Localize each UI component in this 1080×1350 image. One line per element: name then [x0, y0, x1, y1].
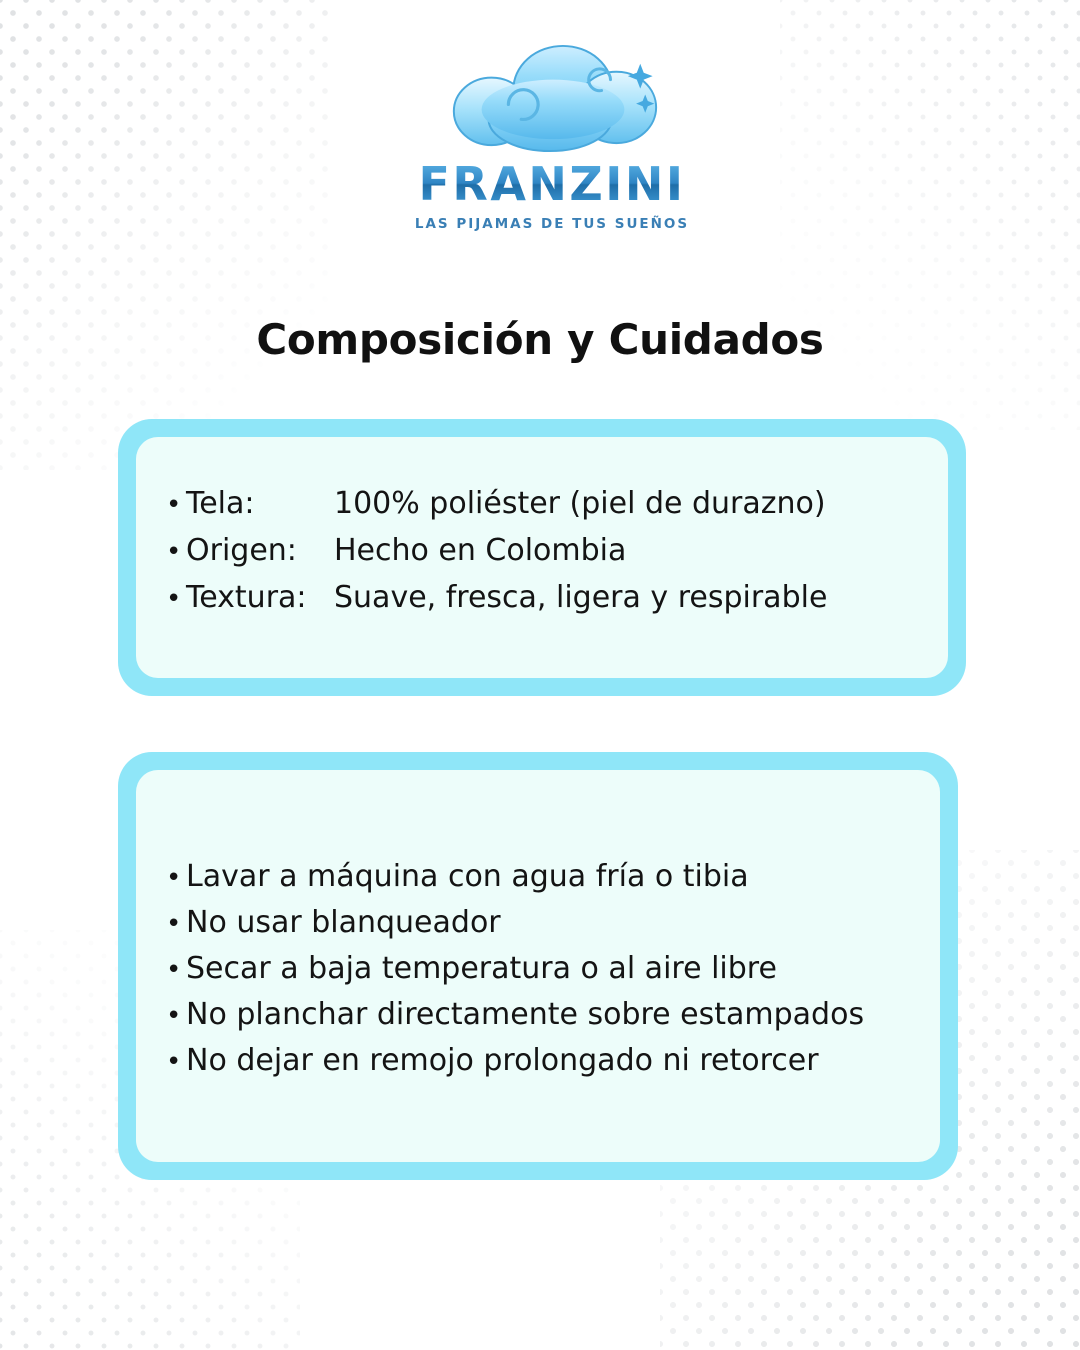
halftone-dots-top-right: [780, 0, 1080, 430]
care-text: Secar a baja temperatura o al aire libre: [186, 954, 777, 984]
care-list: • Lavar a máquina con agua fría o tibia …: [166, 862, 864, 1092]
bullet-icon: •: [166, 539, 186, 565]
brand-tagline: LAS PIJAMAS DE TUS SUEÑOS: [415, 216, 689, 232]
list-item: • Textura: Suave, fresca, ligera y respi…: [166, 583, 827, 613]
halftone-dots-top-left: [0, 0, 330, 470]
list-item: • No planchar directamente sobre estampa…: [166, 1000, 864, 1030]
care-text: Lavar a máquina con agua fría o tibia: [186, 862, 749, 892]
list-item: • Secar a baja temperatura o al aire lib…: [166, 954, 864, 984]
composition-label: Origen:: [186, 536, 334, 566]
list-item: • No dejar en remojo prolongado ni retor…: [166, 1046, 864, 1076]
composition-card: • Tela: 100% poliéster (piel de durazno)…: [118, 419, 966, 696]
cloud-icon: [445, 38, 660, 155]
brand-logo: FRANZINI LAS PIJAMAS DE TUS SUEÑOS: [398, 0, 706, 232]
composition-label: Tela:: [186, 489, 334, 519]
list-item: • No usar blanqueador: [166, 908, 864, 938]
composition-card-inner: • Tela: 100% poliéster (piel de durazno)…: [136, 437, 948, 678]
care-card-inner: • Lavar a máquina con agua fría o tibia …: [136, 770, 940, 1162]
bullet-icon: •: [166, 1049, 186, 1075]
list-item: • Origen: Hecho en Colombia: [166, 536, 827, 566]
bullet-icon: •: [166, 492, 186, 518]
list-item: • Lavar a máquina con agua fría o tibia: [166, 862, 864, 892]
care-text: No usar blanqueador: [186, 908, 501, 938]
composition-value: Suave, fresca, ligera y respirable: [334, 583, 827, 613]
care-text: No dejar en remojo prolongado ni retorce…: [186, 1046, 819, 1076]
care-text: No planchar directamente sobre estampado…: [186, 1000, 864, 1030]
brand-name: FRANZINI: [418, 161, 685, 207]
bullet-icon: •: [166, 865, 186, 891]
list-item: • Tela: 100% poliéster (piel de durazno): [166, 489, 827, 519]
bullet-icon: •: [166, 911, 186, 937]
bullet-icon: •: [166, 1003, 186, 1029]
composition-value: Hecho en Colombia: [334, 536, 626, 566]
composition-label: Textura:: [186, 583, 334, 613]
bullet-icon: •: [166, 957, 186, 983]
composition-value: 100% poliéster (piel de durazno): [334, 489, 826, 519]
page-title: Composición y Cuidados: [0, 315, 1080, 364]
composition-list: • Tela: 100% poliéster (piel de durazno)…: [166, 489, 827, 630]
care-instructions-card: • Lavar a máquina con agua fría o tibia …: [118, 752, 958, 1180]
bullet-icon: •: [166, 586, 186, 612]
